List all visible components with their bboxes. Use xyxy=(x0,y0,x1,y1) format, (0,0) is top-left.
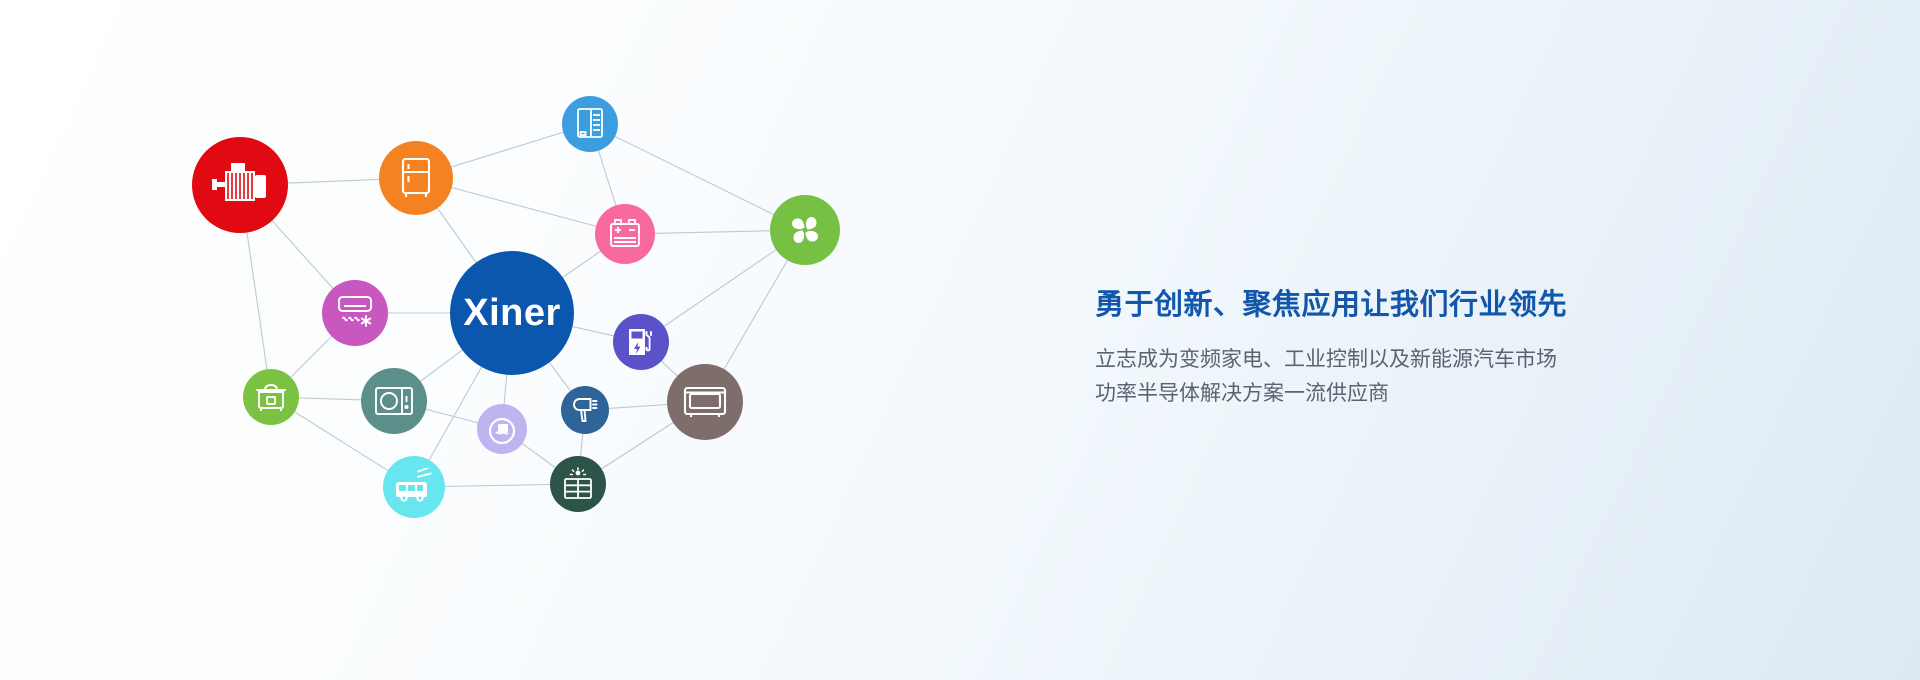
rice-cooker-icon xyxy=(254,381,288,413)
ev-charger-icon xyxy=(625,326,657,358)
microwave-icon xyxy=(373,384,415,418)
node-air-conditioner[interactable] xyxy=(322,280,388,346)
brand-node[interactable]: Xiner xyxy=(450,251,574,375)
node-ev-charger[interactable] xyxy=(613,314,669,370)
page-title: 勇于创新、聚焦应用让我们行业领先 xyxy=(1095,286,1795,325)
solar-panel-icon xyxy=(561,467,595,501)
electric-bus-icon xyxy=(393,468,435,506)
node-rice-cooker[interactable] xyxy=(243,369,299,425)
node-battery[interactable] xyxy=(595,204,655,264)
industrial-motor-icon xyxy=(209,159,271,211)
subcopy-line-2: 功率半导体解决方案一流供应商 xyxy=(1095,377,1795,411)
node-electric-oven[interactable] xyxy=(667,364,743,440)
washing-machine-icon xyxy=(486,414,518,444)
node-solar-panel[interactable] xyxy=(550,456,606,512)
node-microwave-oven[interactable] xyxy=(361,368,427,434)
refrigerator-icon xyxy=(397,156,435,200)
hero-subcopy: 立志成为变频家电、工业控制以及新能源汽车市场 功率半导体解决方案一流供应商 xyxy=(1095,343,1795,411)
display-cabinet-icon xyxy=(575,107,605,141)
network-edges xyxy=(0,0,900,680)
application-network-diagram: Xiner xyxy=(0,0,900,680)
node-refrigerator[interactable] xyxy=(379,141,453,215)
fan-icon xyxy=(782,207,828,253)
node-washing-machine[interactable] xyxy=(477,404,527,454)
battery-icon xyxy=(608,218,642,250)
node-cooling-fan[interactable] xyxy=(770,195,840,265)
node-electric-bus[interactable] xyxy=(383,456,445,518)
node-display-cabinet[interactable] xyxy=(562,96,618,152)
hero-banner: Xiner 勇于创新、聚焦应用让我们行业领先 立志成为变频家电、工业控制以及新能… xyxy=(0,0,1920,680)
air-conditioner-icon xyxy=(334,293,376,333)
electric-oven-icon xyxy=(682,383,728,421)
subcopy-line-1: 立志成为变频家电、工业控制以及新能源汽车市场 xyxy=(1095,343,1795,377)
hero-copy: 勇于创新、聚焦应用让我们行业领先 立志成为变频家电、工业控制以及新能源汽车市场 … xyxy=(1095,286,1795,411)
node-hair-dryer[interactable] xyxy=(561,386,609,434)
node-industrial-motor[interactable] xyxy=(192,137,288,233)
hair-dryer-icon xyxy=(570,395,600,425)
brand-name: Xiner xyxy=(463,294,561,332)
